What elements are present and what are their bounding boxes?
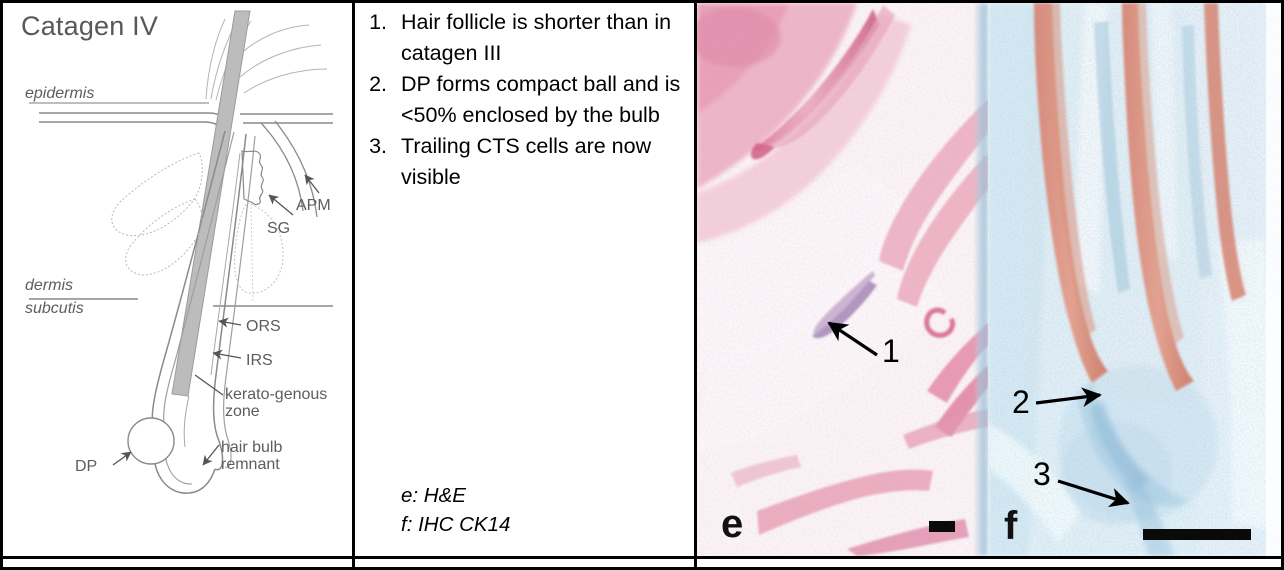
label-subcutis: subcutis	[25, 300, 84, 318]
list-item: 1. Hair follicle is shorter than in cata…	[355, 7, 694, 69]
stain-legend-line-f: f: IHC CK14	[401, 510, 510, 539]
table-column-divider-1	[352, 0, 355, 558]
list-item: 2. DP forms compact ball and is <50% enc…	[355, 69, 694, 131]
label-sg: SG	[267, 220, 290, 237]
scale-bar-f	[1143, 529, 1251, 540]
scale-bar-e	[929, 521, 955, 532]
micrograph-e: 1 e	[697, 3, 988, 556]
label-hair-bulb-remnant: hair bulb remnant	[221, 439, 339, 474]
list-item: 3. Trailing CTS cells are now visible	[355, 131, 694, 193]
stain-legend-line-e: e: H&E	[401, 481, 510, 510]
numbered-feature-list: 1. Hair follicle is shorter than in cata…	[355, 7, 694, 193]
panel-micrographs: 1 e	[697, 3, 1281, 556]
micrograph-f: 2 3 f	[988, 3, 1281, 556]
panel-letter-e: e	[721, 504, 743, 544]
list-item-number: 1.	[355, 7, 401, 38]
table-border-row-divider	[0, 556, 1284, 559]
panel-schematic-diagram: Catagen IV	[3, 3, 352, 556]
figure-catagen-iv: Catagen IV	[0, 0, 1284, 570]
label-dp: DP	[75, 458, 97, 475]
label-ors: ORS	[246, 318, 281, 335]
table-column-divider-2-next-row	[694, 559, 697, 570]
label-apm: APM	[296, 197, 331, 214]
label-keratogenous-zone: kerato-genous zone	[225, 386, 345, 421]
label-epidermis: epidermis	[25, 85, 94, 103]
annotation-arrows-e	[697, 3, 988, 556]
list-item-number: 3.	[355, 131, 401, 162]
list-item-text: DP forms compact ball and is <50% enclos…	[401, 69, 694, 131]
list-item-text: Trailing CTS cells are now visible	[401, 131, 694, 193]
list-item-number: 2.	[355, 69, 401, 100]
label-irs: IRS	[246, 352, 273, 369]
annotation-arrows-f	[988, 3, 1281, 556]
panel-feature-notes: 1. Hair follicle is shorter than in cata…	[355, 3, 694, 556]
table-column-divider-1-next-row	[352, 559, 355, 570]
annotation-number-1: 1	[882, 335, 900, 367]
panel-letter-f: f	[1004, 506, 1017, 546]
stain-legend: e: H&E f: IHC CK14	[401, 481, 510, 539]
list-item-text: Hair follicle is shorter than in catagen…	[401, 7, 694, 69]
annotation-number-3: 3	[1033, 458, 1051, 490]
label-dermis: dermis	[25, 277, 73, 295]
annotation-number-2: 2	[1012, 386, 1030, 418]
table-border-left	[0, 0, 3, 570]
